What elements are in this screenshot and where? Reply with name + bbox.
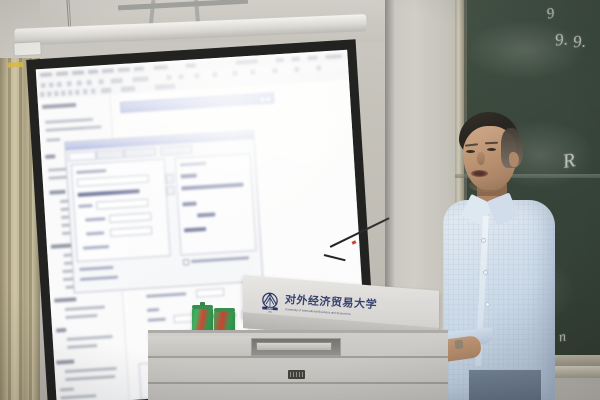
nose: [477, 152, 485, 165]
svg-text:1951: 1951: [268, 311, 272, 313]
dialog-right-group: [175, 153, 257, 256]
presenter: [433, 112, 563, 400]
chalk-mark: 9: [545, 5, 556, 23]
mouth: [471, 170, 488, 177]
eye: [487, 148, 496, 151]
dialog-left-group: [71, 158, 171, 262]
svg-text:UIBE: UIBE: [267, 307, 273, 310]
eye: [466, 150, 475, 153]
lectern-shelf-edge: [148, 330, 448, 333]
app-modal-dialog[interactable]: [64, 130, 263, 294]
wristwatch: [454, 339, 463, 349]
uibe-emblem-icon: UIBE 1951: [259, 290, 281, 314]
control-badge-text: [290, 372, 303, 377]
screen-roller-end-cap: [13, 41, 42, 56]
roller-warning-label: [7, 62, 23, 68]
chin: [469, 178, 505, 192]
lecture-hall-photo: 9 9. 9. R n: [0, 0, 600, 400]
ear: [509, 152, 519, 167]
lectern-left-panel: [148, 336, 253, 356]
media-slot-tray[interactable]: [256, 342, 332, 351]
ceiling-rail: [118, 0, 248, 10]
trousers: [469, 370, 541, 400]
